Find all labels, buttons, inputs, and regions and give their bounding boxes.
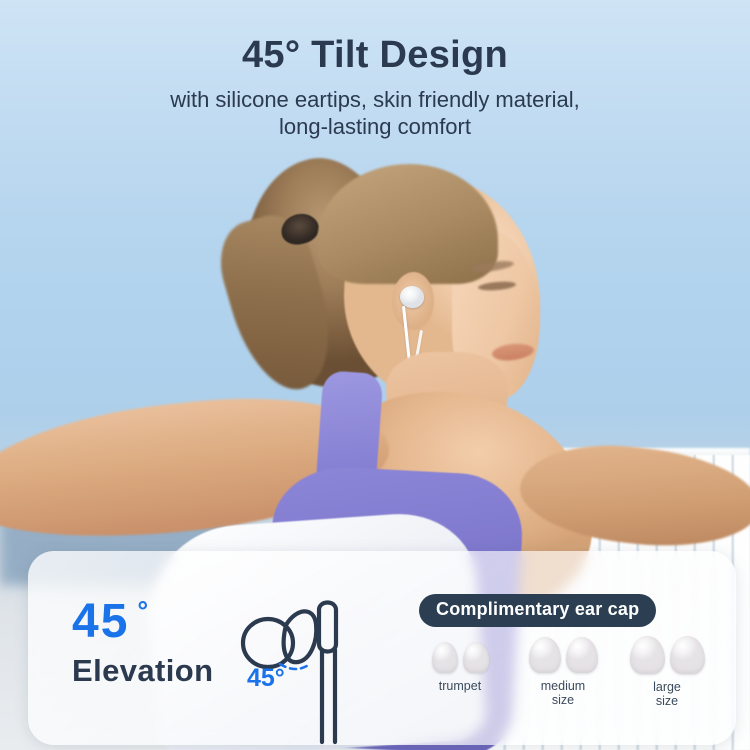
ear-tip-group-trumpet: trumpet [418,642,502,693]
ear-tip-icon [566,637,598,673]
earbud-tilt-diagram [240,578,370,748]
ear-tip-group-large: large size [618,636,716,708]
page-title: 45° Tilt Design [0,34,750,77]
ear-tip-label-line-1: medium [516,679,610,693]
ear-tip-group-medium: medium size [516,637,610,707]
ear-tip-icon [630,636,665,674]
ear-tip-pair [516,637,610,673]
ear-tip-label: large size [618,680,716,708]
ear-tip-pair [618,636,716,674]
ear-tip-icon [463,642,489,673]
ear-tip-label-line-1: large [618,680,716,694]
elevation-value: 45° [72,598,150,646]
ear-tip-label: trumpet [418,679,502,693]
ear-tip-label-line-2: size [516,693,610,707]
earbud-icon [400,286,424,308]
page-subtitle: with silicone eartips, skin friendly mat… [0,86,750,140]
ear-tip-label: medium size [516,679,610,707]
ear-tip-label-line-2: size [618,694,716,708]
status-badge: Complimentary ear cap [419,594,656,627]
ear-tip-label-line-1: trumpet [418,679,502,693]
degree-symbol: ° [137,596,150,626]
ear-tip-sizes: trumpet medium size large size [416,636,716,736]
diagram-angle-label: 45° [247,666,285,691]
earbud-diagram-icon [240,578,370,748]
subtitle-line-1: with silicone eartips, skin friendly mat… [0,86,750,113]
ear-tip-pair [418,642,502,673]
product-feature-banner: 45° Tilt Design with silicone eartips, s… [0,0,750,750]
subtitle-line-2: long-lasting comfort [0,113,750,140]
ear-tip-icon [670,636,705,674]
ear-tip-icon [432,642,458,673]
elevation-number: 45 [72,595,129,648]
ear-tip-icon [529,637,561,673]
elevation-label: Elevation [72,655,213,686]
